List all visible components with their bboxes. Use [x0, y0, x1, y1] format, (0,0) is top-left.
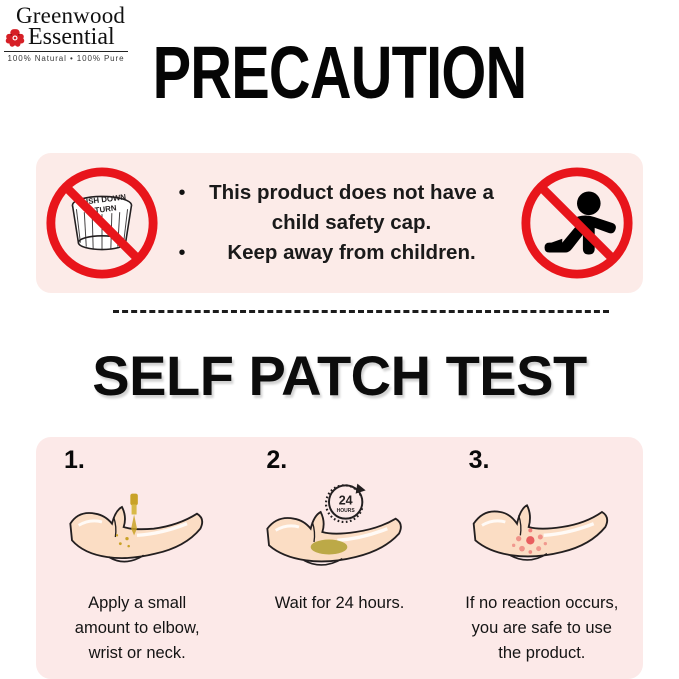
- step-caption: Apply a small amount to elbow, wrist or …: [36, 591, 238, 666]
- page-title-self-patch-test: SELF PATCH TEST: [0, 345, 679, 407]
- step-number: 1.: [64, 445, 238, 475]
- step-number: 3.: [469, 445, 643, 475]
- warning-bullet-item: • Keep away from children.: [170, 238, 509, 268]
- arm-with-red-reaction-icon: [457, 477, 627, 577]
- page-title-precaution: PRECAUTION: [75, 34, 605, 112]
- 24-hours-badge-icon: 24 HOURS: [326, 484, 366, 522]
- badge-hours-label: HOURS: [337, 508, 356, 514]
- step-caption: If no reaction occurs, you are safe to u…: [441, 591, 643, 666]
- caption-line: Apply a small: [46, 591, 228, 616]
- patch-test-steps-panel: 1. Apply a small amount to elbow, wrist …: [36, 437, 643, 679]
- caption-line: If no reaction occurs,: [451, 591, 633, 616]
- badge-hours-number: 24: [339, 494, 353, 508]
- patch-test-step: 2. 24 HOURS Wait for 24 hours.: [238, 437, 440, 679]
- red-flower-icon: [4, 27, 26, 49]
- caption-line: the product.: [451, 641, 633, 666]
- step-caption: Wait for 24 hours.: [238, 591, 440, 616]
- bullet-marker: •: [170, 238, 194, 268]
- warning-bullet-text: Keep away from children.: [194, 238, 509, 268]
- warning-bullet-list: • This product does not have a child saf…: [168, 178, 511, 268]
- section-divider: [113, 310, 609, 313]
- caption-line: amount to elbow,: [46, 616, 228, 641]
- caption-line: you are safe to use: [451, 616, 633, 641]
- arm-with-dropper-icon: [52, 477, 222, 577]
- no-children-icon: [517, 164, 637, 282]
- dropper-icon: [130, 494, 138, 536]
- warning-bullet-line: child safety cap.: [194, 208, 509, 238]
- no-child-safety-cap-icon: PUSH DOWN & TURN: [42, 164, 162, 282]
- warning-bullet-line: This product does not have a: [194, 178, 509, 208]
- warning-bullet-item: • This product does not have a child saf…: [170, 178, 509, 238]
- oil-patch: [311, 540, 348, 555]
- bullet-marker: •: [170, 178, 194, 208]
- warning-bullet-text: This product does not have a child safet…: [194, 178, 509, 238]
- arm-with-oil-patch-icon: 24 HOURS: [254, 477, 424, 577]
- step-number: 2.: [266, 445, 440, 475]
- warning-bullet-line: Keep away from children.: [194, 238, 509, 268]
- caption-line: Wait for 24 hours.: [248, 591, 430, 616]
- patch-test-step: 1. Apply a small amount to elbow, wrist …: [36, 437, 238, 679]
- caption-line: wrist or neck.: [46, 641, 228, 666]
- patch-test-step: 3. If no reaction occurs, you are safe t…: [441, 437, 643, 679]
- warning-panel: PUSH DOWN & TURN • This product does not…: [36, 153, 643, 293]
